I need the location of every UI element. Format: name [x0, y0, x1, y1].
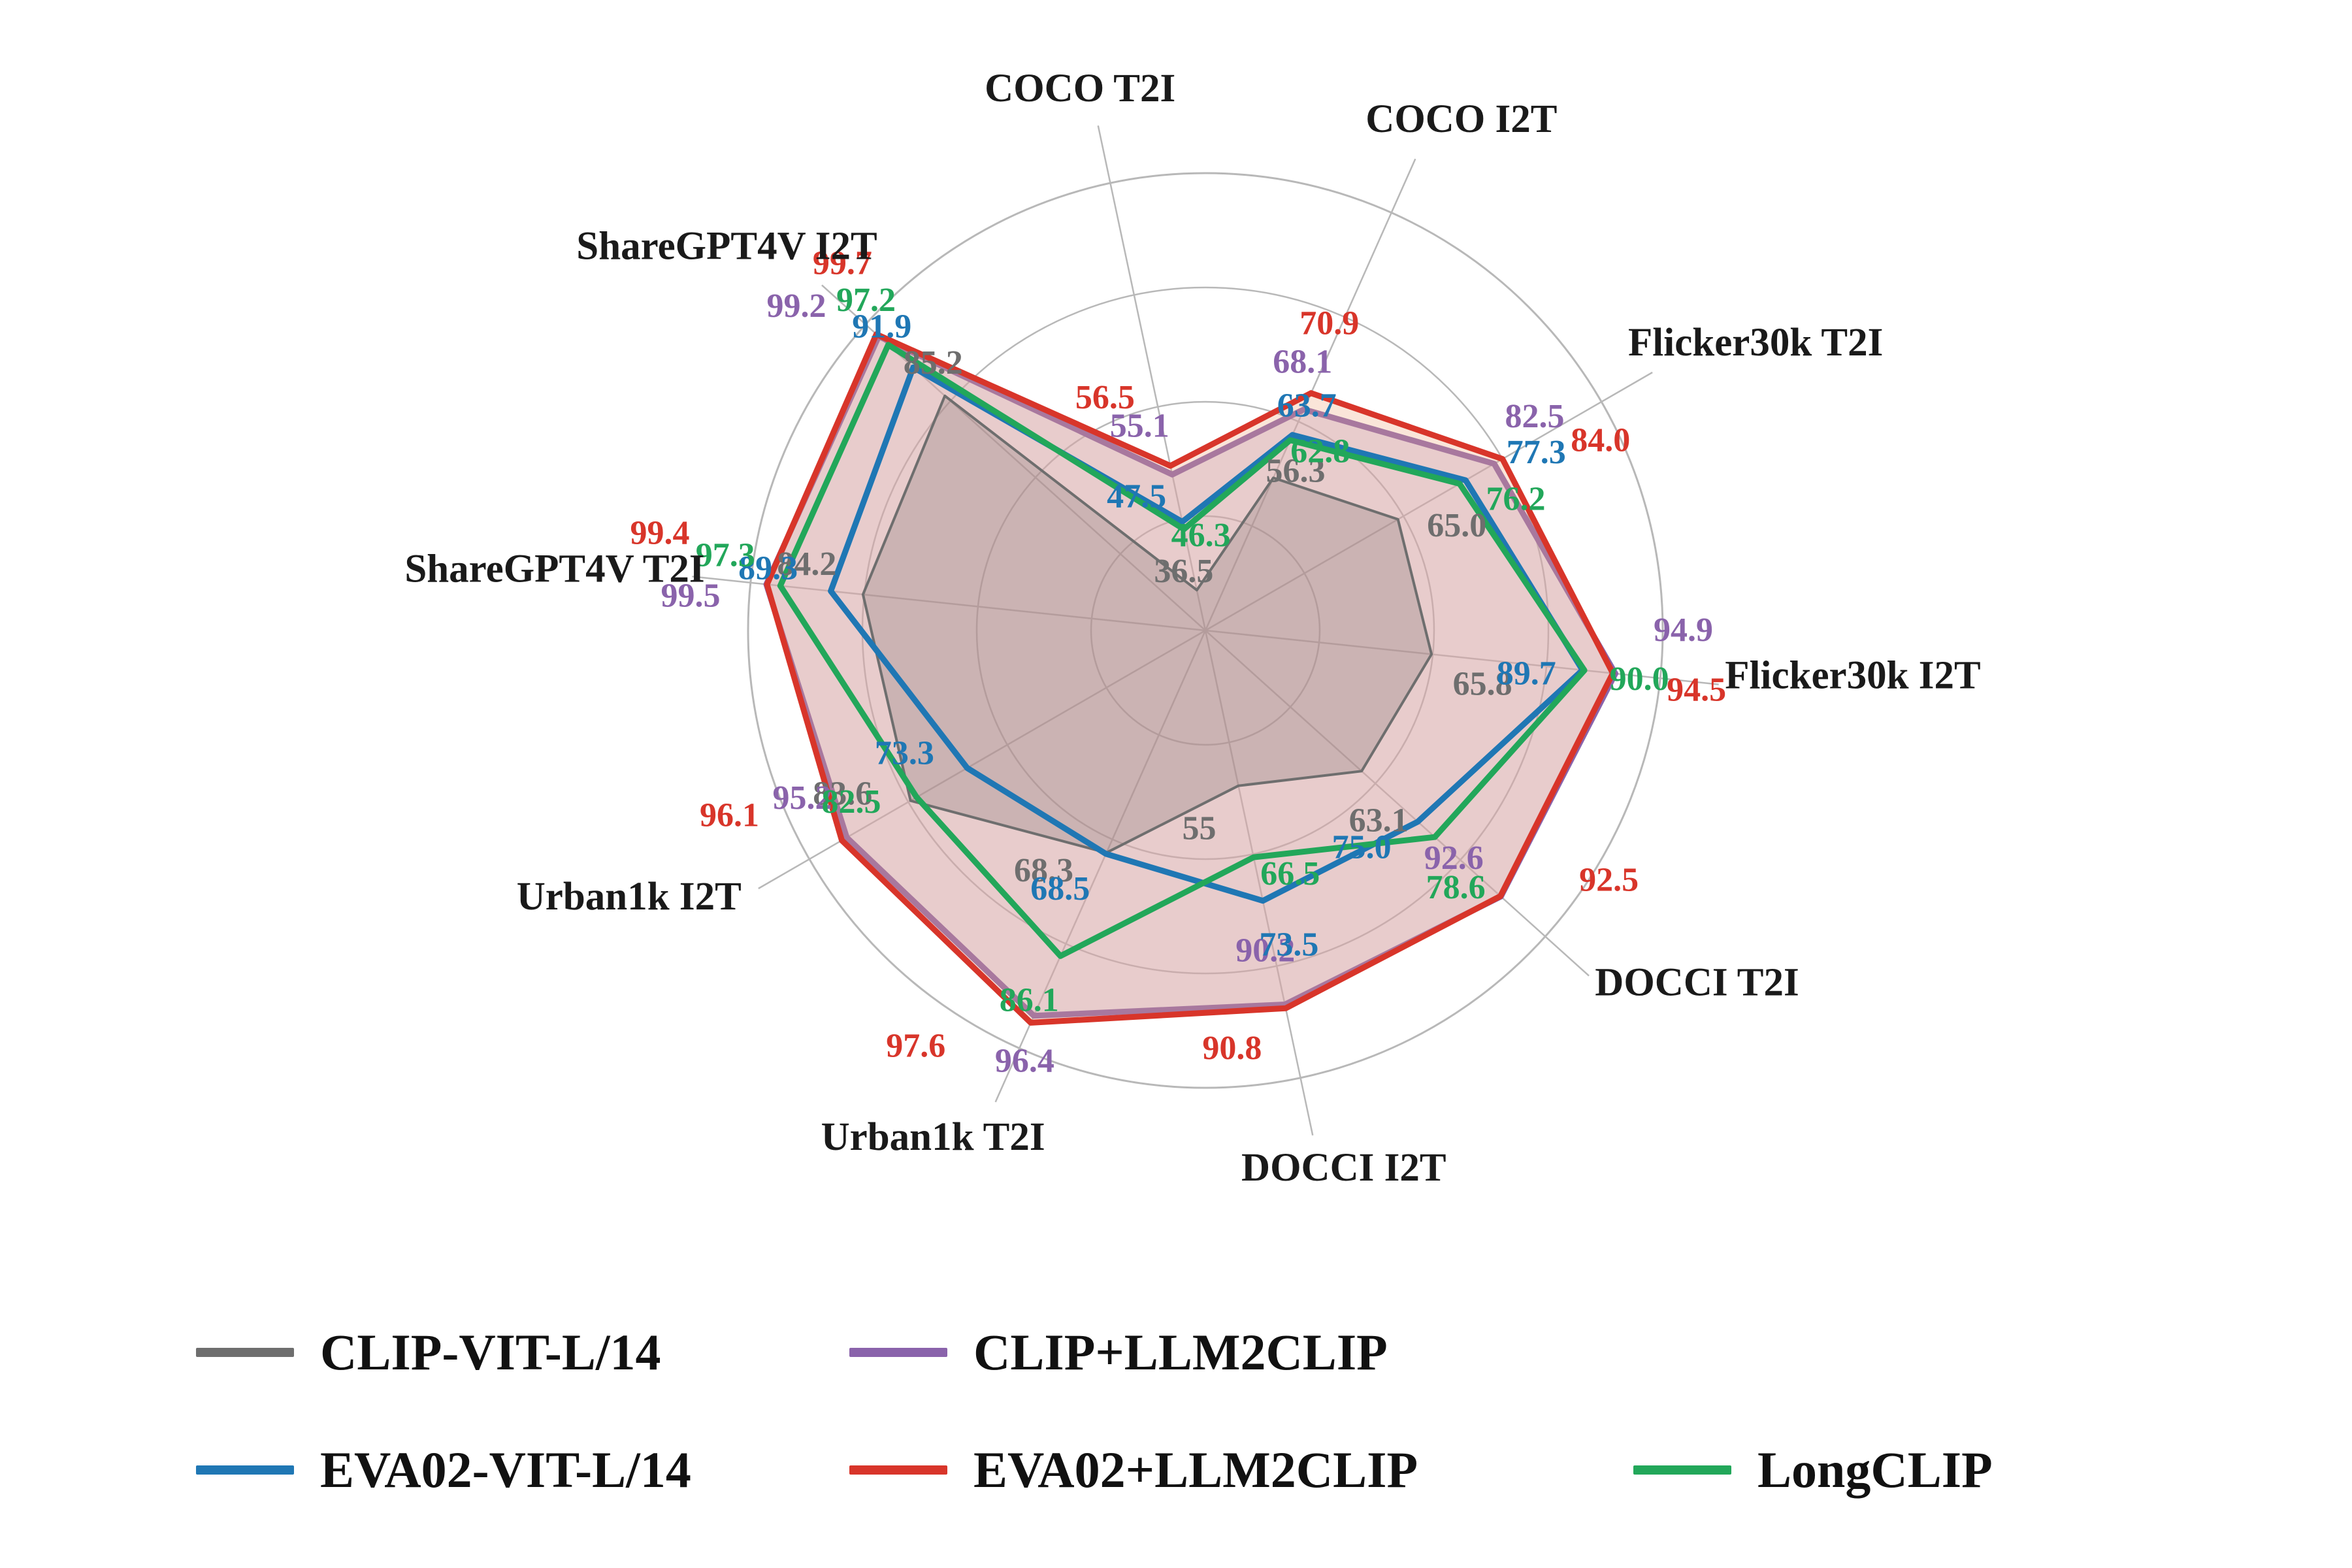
- axis-label-sharegpt4v-i2t: ShareGPT4V I2T: [576, 225, 877, 269]
- axis-label-sharegpt4v-t2i: ShareGPT4V T2I: [404, 547, 704, 591]
- data-point-label: 62.8: [1290, 433, 1350, 470]
- data-point-label: 99.2: [767, 287, 826, 325]
- legend-label-eva02-vit: EVA02-VIT-L/14: [320, 1441, 691, 1499]
- legend-row-2: EVA02-VIT-L/14 EVA02+LLM2CLIP LongCLIP: [0, 1411, 2352, 1529]
- legend-label-clip-llm2clip: CLIP+LLM2CLIP: [973, 1323, 1388, 1382]
- legend-label-clip-vit: CLIP-VIT-L/14: [320, 1323, 661, 1382]
- data-point-label: 68.5: [1030, 870, 1090, 907]
- legend-swatch-eva02-llm2clip: [849, 1465, 947, 1475]
- data-point-label: 70.9: [1299, 305, 1359, 342]
- data-point-label: 78.6: [1426, 869, 1486, 906]
- axis-label-coco-t2i: COCO T2I: [985, 67, 1175, 110]
- chart-legend: CLIP-VIT-L/14 CLIP+LLM2CLIP EVA02-VIT-L/…: [0, 1294, 2352, 1568]
- data-point-label: 89.7: [1497, 655, 1556, 693]
- axis-label-docci-i2t: DOCCI I2T: [1241, 1146, 1446, 1190]
- radar-chart: 36.556.365.065.863.15568.383.684.285.255…: [0, 0, 2352, 1294]
- data-point-label: 96.4: [995, 1043, 1054, 1080]
- legend-item-clip-vit[interactable]: CLIP-VIT-L/14: [196, 1323, 849, 1382]
- legend-label-eva02-llm2clip: EVA02+LLM2CLIP: [973, 1441, 1418, 1499]
- data-point-label: 85.2: [904, 344, 963, 382]
- data-point-label: 46.3: [1171, 517, 1231, 554]
- legend-label-longclip: LongCLIP: [1757, 1441, 1993, 1499]
- data-point-label: 94.9: [1654, 612, 1713, 649]
- data-point-label: 36.5: [1154, 553, 1213, 590]
- data-point-label: 73.3: [875, 735, 934, 772]
- radar-chart-page: 36.556.365.065.863.15568.383.684.285.255…: [0, 0, 2352, 1568]
- data-point-label: 66.5: [1260, 855, 1320, 892]
- data-point-label: 97.6: [886, 1027, 945, 1064]
- axis-label-flicker30k-i2t: Flicker30k I2T: [1725, 653, 1980, 697]
- data-point-label: 75.0: [1332, 829, 1392, 866]
- legend-item-eva02-llm2clip[interactable]: EVA02+LLM2CLIP: [849, 1441, 1633, 1499]
- data-point-label: 73.5: [1259, 926, 1318, 964]
- axis-label-urban1k-t2i: Urban1k T2I: [821, 1115, 1045, 1159]
- data-point-label: 94.5: [1667, 672, 1726, 709]
- data-point-label: 65.0: [1427, 507, 1486, 544]
- data-point-label: 77.3: [1507, 434, 1566, 471]
- data-point-label: 82.5: [1505, 398, 1565, 435]
- data-point-label: 92.5: [1579, 862, 1639, 899]
- data-point-label: 99.4: [630, 515, 690, 552]
- data-point-label: 56.5: [1075, 379, 1135, 416]
- data-point-label: 76.2: [1486, 480, 1546, 517]
- data-point-label: 86.1: [1000, 981, 1059, 1019]
- legend-row-1: CLIP-VIT-L/14 CLIP+LLM2CLIP: [0, 1294, 2352, 1411]
- legend-swatch-clip-vit: [196, 1348, 294, 1357]
- axis-label-urban1k-i2t: Urban1k I2T: [517, 875, 742, 919]
- axis-label-docci-t2i: DOCCI T2I: [1595, 961, 1799, 1005]
- data-point-label: 63.7: [1277, 387, 1337, 425]
- data-point-label: 68.1: [1273, 344, 1332, 381]
- legend-swatch-clip-llm2clip: [849, 1348, 947, 1357]
- data-point-label: 82.5: [822, 783, 881, 821]
- data-point-label: 84.0: [1571, 422, 1630, 459]
- legend-item-eva02-vit[interactable]: EVA02-VIT-L/14: [196, 1441, 849, 1499]
- data-point-label: 55: [1183, 810, 1217, 847]
- data-point-label: 97.2: [836, 282, 896, 319]
- axis-label-coco-i2t: COCO I2T: [1365, 97, 1557, 141]
- data-point-label: 90.8: [1202, 1030, 1262, 1067]
- data-point-label: 96.1: [700, 796, 759, 834]
- data-point-label: 47.5: [1107, 478, 1166, 515]
- radar-svg: 36.556.365.065.863.15568.383.684.285.255…: [0, 0, 2352, 1294]
- legend-item-clip-llm2clip[interactable]: CLIP+LLM2CLIP: [849, 1323, 1633, 1382]
- legend-swatch-longclip: [1633, 1465, 1731, 1475]
- legend-swatch-eva02-vit: [196, 1465, 294, 1475]
- legend-item-longclip[interactable]: LongCLIP: [1633, 1441, 1993, 1499]
- axis-label-flicker30k-t2i: Flicker30k T2I: [1628, 321, 1883, 365]
- data-point-label: 90.0: [1610, 661, 1669, 698]
